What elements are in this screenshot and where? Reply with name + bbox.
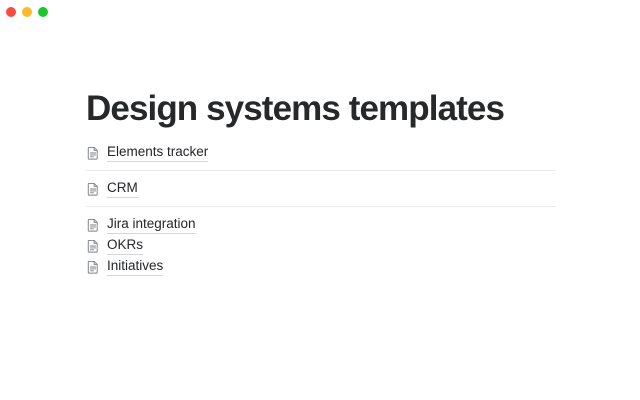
document-list: Elements tracker CRM Jir bbox=[86, 142, 556, 277]
page-title: Design systems templates bbox=[86, 26, 556, 128]
close-window-button[interactable] bbox=[6, 7, 16, 17]
list-item[interactable]: Initiatives bbox=[86, 256, 556, 277]
list-item[interactable]: CRM bbox=[86, 178, 556, 199]
document-icon bbox=[86, 146, 100, 160]
document-icon bbox=[86, 218, 100, 232]
document-link[interactable]: CRM bbox=[107, 180, 138, 198]
traffic-light-group bbox=[6, 7, 48, 17]
list-item[interactable]: Jira integration bbox=[86, 214, 556, 235]
document-link[interactable]: OKRs bbox=[107, 237, 143, 255]
document-link[interactable]: Initiatives bbox=[107, 258, 163, 276]
document-icon bbox=[86, 239, 100, 253]
document-link[interactable]: Elements tracker bbox=[107, 144, 208, 162]
window-titlebar bbox=[0, 0, 640, 26]
document-icon bbox=[86, 260, 100, 274]
list-item[interactable]: OKRs bbox=[86, 235, 556, 256]
document-link[interactable]: Jira integration bbox=[107, 216, 196, 234]
list-divider bbox=[86, 206, 556, 207]
list-divider bbox=[86, 170, 556, 171]
page-content: Design systems templates Elements tracke… bbox=[86, 26, 556, 277]
document-icon bbox=[86, 182, 100, 196]
maximize-window-button[interactable] bbox=[38, 7, 48, 17]
minimize-window-button[interactable] bbox=[22, 7, 32, 17]
list-item[interactable]: Elements tracker bbox=[86, 142, 556, 163]
